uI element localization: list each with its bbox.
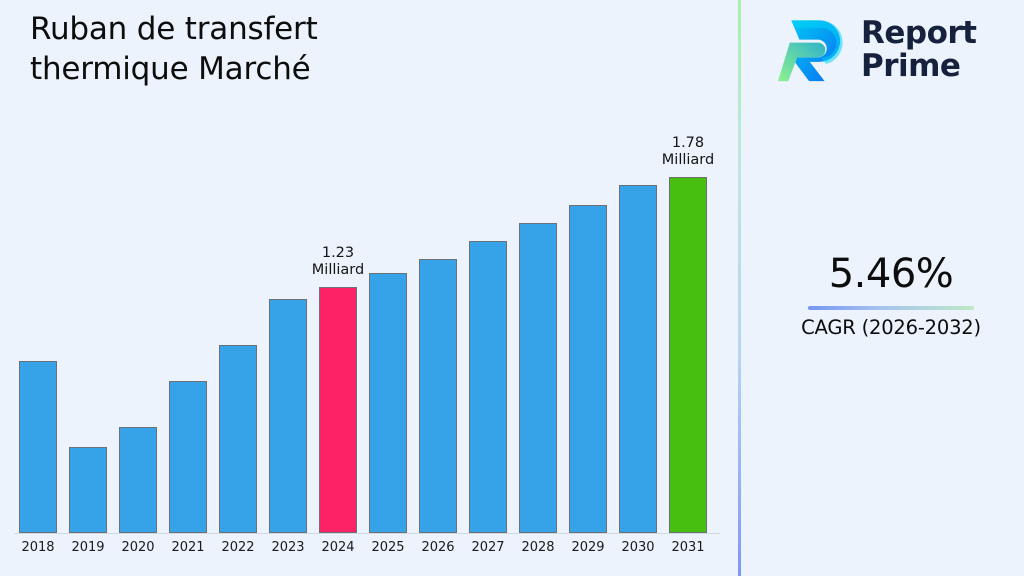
x-tick-2031: 2031 bbox=[657, 540, 719, 555]
bar-2019 bbox=[69, 447, 107, 533]
bar-2028 bbox=[519, 223, 557, 533]
bar-2030 bbox=[619, 185, 657, 533]
bar-2025 bbox=[369, 273, 407, 533]
cagr-divider-rule bbox=[808, 306, 974, 310]
report-prime-r-logo-icon bbox=[775, 12, 849, 88]
bar-2023 bbox=[269, 299, 307, 533]
bar-2022 bbox=[219, 345, 257, 533]
bar-2027 bbox=[469, 241, 507, 533]
panel-divider bbox=[738, 0, 741, 576]
brand-name-line2: Prime bbox=[861, 50, 977, 83]
bar-2029 bbox=[569, 205, 607, 533]
bar-2020 bbox=[119, 427, 157, 533]
bar-2024 bbox=[319, 287, 357, 533]
cagr-caption: CAGR (2026-2032) bbox=[760, 316, 1022, 339]
poster-canvas: Ruban de transfert thermique Marché Repo… bbox=[0, 0, 1024, 576]
bar-value-label-2031: 1.78 Milliard bbox=[632, 135, 744, 169]
bar-2018 bbox=[19, 361, 57, 533]
brand-logo: Report Prime bbox=[775, 12, 977, 88]
cagr-value: 5.46% bbox=[760, 252, 1022, 296]
bar-2031 bbox=[669, 177, 707, 533]
brand-name: Report Prime bbox=[861, 17, 977, 84]
brand-name-line1: Report bbox=[861, 17, 977, 50]
bar-2021 bbox=[169, 381, 207, 533]
bar-chart: 2018201920202021202220232024202520262027… bbox=[0, 0, 738, 576]
bar-2026 bbox=[419, 259, 457, 533]
x-axis-line bbox=[14, 533, 720, 534]
cagr-panel: 5.46% CAGR (2026-2032) bbox=[760, 252, 1022, 339]
